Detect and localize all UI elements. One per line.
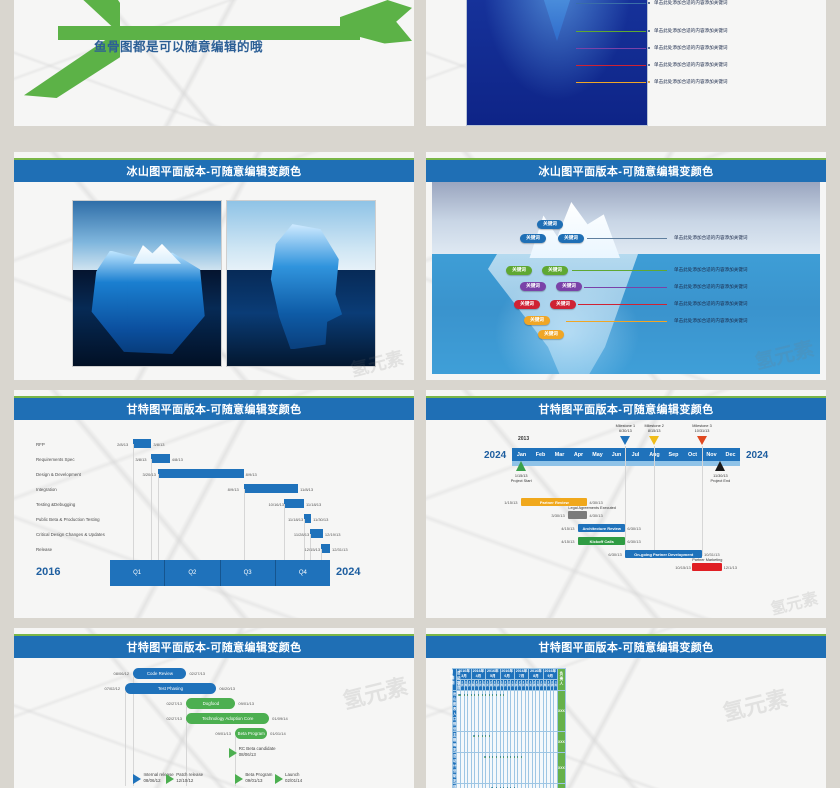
axis-month: Feb — [531, 448, 550, 461]
milestone-flag-icon[interactable] — [166, 774, 174, 784]
quarter-axis: Q1 Q2 Q3 Q4 — [110, 560, 330, 586]
slide-gantt-timeline[interactable]: 甘特图平面版本-可随意编辑变颜色 2024 2013 JanFebMarAprM… — [426, 390, 826, 618]
gantt-start-date: 09/01/13 — [215, 731, 231, 736]
project-marker-date: 11/30/13 — [702, 474, 738, 478]
gantt-end-date: 12/31/13 — [332, 547, 348, 552]
corner-label-activity: 活动项目 — [457, 670, 460, 690]
gantt-table-cell[interactable] — [554, 691, 558, 732]
gantt-bar[interactable]: Partner Review — [521, 498, 587, 506]
gantt-end-date: 01/01/14 — [270, 731, 286, 736]
leader-line — [584, 287, 667, 288]
axis-month: Nov — [702, 448, 721, 461]
slide-gantt-quarters[interactable]: 甘特图平面版本-可随意编辑变颜色 2016 Q1 Q2 Q3 Q4 2024 R… — [14, 390, 414, 618]
sky — [432, 182, 820, 254]
gantt-end-date: 8/9/13 — [246, 472, 257, 477]
iceberg-note: 单击此处添加合适的内容添加关键词 — [674, 301, 748, 307]
gantt-start-date: 8/9/13 — [228, 487, 239, 492]
keyword-pill[interactable]: 关键词 — [506, 266, 532, 275]
gantt-start-date: 10/15/13 — [675, 565, 691, 570]
leader-dot-icon — [648, 64, 650, 66]
iceberg-note: 单击此处添加合适的内容添加关键词 — [674, 235, 748, 241]
milestone-marker-icon[interactable] — [649, 436, 659, 445]
gantt-guide-line — [321, 549, 322, 560]
axis-year-end: 2024 — [746, 450, 768, 461]
gantt-bar[interactable] — [304, 514, 311, 523]
gantt-table-owner-header: 负责人 — [558, 669, 566, 691]
gantt-table-month: 2016年8月 — [529, 669, 543, 680]
axis-year-tick: 2013 — [518, 436, 529, 442]
table-header-row: 月份周期活动项目2016年3月2016年4月2016年5月2016年6月2016… — [453, 669, 566, 680]
gantt-bar[interactable]: On-going Partner Development — [625, 550, 702, 558]
gantt-start-date: 12/15/13 — [305, 547, 321, 552]
milestone-flag-icon[interactable] — [229, 748, 237, 758]
fishbone-caption: 鱼骨图都是可以随意编辑的哦 — [94, 36, 263, 55]
axis-quarter: Q1 — [110, 560, 165, 586]
gantt-table-cell[interactable] — [554, 753, 558, 784]
project-marker-icon[interactable] — [715, 461, 725, 471]
gantt-end-date: 6/30/13 — [627, 539, 640, 544]
axis-month: Sep — [664, 448, 683, 461]
iceberg-note: 单击此处添加合适的内容添加关键词 — [654, 45, 728, 51]
gantt-start-date: 3/20/13 — [142, 472, 155, 477]
gantt-start-date: 07/02/12 — [105, 686, 121, 691]
slide-fishbone[interactable]: 鱼骨图都是可以随意编辑的哦 — [14, 0, 414, 126]
gantt-end-date: 02/27/13 — [189, 671, 205, 676]
gantt-table-week: 4周 — [554, 680, 558, 691]
keyword-pill[interactable]: 关键词 — [558, 234, 584, 243]
gantt-bar[interactable] — [568, 511, 587, 519]
leader-line — [587, 238, 667, 239]
iceberg-photo-right — [226, 200, 376, 367]
gantt-start-date: 6/30/13 — [608, 552, 621, 557]
gantt-end-date: 10/31/13 — [704, 552, 720, 557]
slide-thumbnail-sheet: 鱼骨图都是可以随意编辑的哦 关键词 关键词 关键词 关键词 关键词 关键词 关键… — [0, 0, 840, 788]
milestone-guide-line — [702, 446, 703, 556]
gantt-bar-caption: Legal Agreements Executed — [568, 506, 587, 510]
gantt-start-date: 08/06/12 — [113, 671, 129, 676]
leader-dot-icon — [648, 47, 650, 49]
leader-dot-icon — [648, 81, 650, 83]
gantt-end-date: 4/8/13 — [172, 457, 183, 462]
keyword-pill[interactable]: 关键词 — [556, 282, 582, 291]
gantt-bar-caption: Partner Marketing — [692, 558, 721, 562]
gantt-bar[interactable] — [692, 563, 721, 571]
gantt-start-date: 10/16/13 — [268, 502, 284, 507]
slide-title: 甘特图平面版本-可随意编辑变颜色 — [14, 398, 414, 420]
project-marker-label: Project End — [698, 479, 742, 483]
gantt-end-date: 11/8/13 — [300, 487, 313, 492]
iceberg-note: 单击此处添加合适的内容添加关键词 — [654, 0, 728, 6]
gantt-start-date: 4/15/13 — [561, 526, 574, 531]
gantt-bar[interactable] — [310, 529, 323, 538]
gantt-table: 月份周期活动项目2016年3月2016年4月2016年5月2016年6月2016… — [452, 668, 566, 788]
gantt-bar[interactable]: Architecture Review — [578, 524, 625, 532]
milestone-date: 12/10/12 — [176, 778, 203, 784]
gantt-bar[interactable] — [133, 439, 151, 448]
gantt-end-date: 11/30/13 — [313, 517, 328, 522]
table-header-row: 1周2周3周4周1周2周3周4周1周2周3周4周1周2周3周4周1周2周3周4周… — [453, 680, 566, 691]
milestone-guide-line — [625, 446, 626, 556]
axis-month: May — [588, 448, 607, 461]
gantt-task-label: Requirements Spec — [36, 457, 75, 462]
gantt-task-label: Public Beta & Production Testing — [36, 517, 100, 522]
keyword-pill[interactable]: 关键词 — [537, 220, 563, 229]
slide-iceberg-dark[interactable]: 关键词 关键词 关键词 关键词 关键词 关键词 关键词 关键词 关键词 单击此处… — [426, 0, 826, 126]
keyword-pill[interactable]: 关键词 — [520, 282, 546, 291]
slide-iceberg-photos[interactable]: 冰山图平面版本-可随意编辑变颜色 氢元素 — [14, 152, 414, 380]
gantt-start-date: 2/8/13 — [117, 442, 128, 447]
milestone-guide-line — [654, 446, 655, 556]
axis-month: Jan — [512, 448, 531, 461]
milestone-label: Milestone 2 — [632, 424, 676, 428]
iceberg-note: 单击此处添加合适的内容添加关键词 — [674, 284, 748, 290]
axis-year-end: 2024 — [336, 566, 360, 578]
milestone-date: 8/15/13 — [632, 429, 676, 433]
gantt-guide-line — [133, 444, 134, 560]
gantt-end-date: 12/19/13 — [325, 532, 341, 537]
milestone-label: Milestone 3 — [680, 424, 724, 428]
leader-line — [576, 31, 646, 32]
milestone-marker-icon[interactable] — [697, 436, 707, 445]
leader-line — [576, 82, 646, 83]
leader-line — [576, 48, 646, 49]
axis-year-start: 2016 — [36, 566, 60, 578]
slide-title: 甘特图平面版本-可随意编辑变颜色 — [426, 636, 826, 658]
leader-dot-icon — [648, 30, 650, 32]
iceberg-dark-canvas: 关键词 关键词 关键词 关键词 关键词 关键词 关键词 关键词 关键词 — [466, 0, 648, 126]
gantt-guide-line — [125, 691, 126, 786]
keyword-pill[interactable]: 关键词 — [520, 234, 546, 243]
iceberg-note: 单击此处添加合适的内容添加关键词 — [674, 267, 748, 273]
gantt-bar[interactable] — [284, 499, 304, 508]
slide-gantt-table[interactable]: 甘特图平面版本-可随意编辑变颜色 月份周期活动项目2016年3月2016年4月2… — [426, 628, 826, 788]
gantt-task-label: Critical Design Changes & Updates — [36, 532, 105, 537]
iceberg-note: 单击此处添加合适的内容添加关键词 — [654, 28, 728, 34]
axis-month: Dec — [721, 448, 740, 461]
keyword-pill[interactable]: 关键词 — [524, 316, 550, 325]
gantt-task-label: Testing &Debugging — [36, 502, 75, 507]
project-marker-date: 1/15/13 — [503, 474, 539, 478]
gantt-start-date: 11/28/13 — [294, 532, 309, 537]
milestone-date: 10/31/13 — [680, 429, 724, 433]
milestone-date: 02/01/14 — [285, 778, 302, 784]
gantt-table-corner: 月份周期活动项目 — [453, 669, 457, 691]
table-row: 现状产量XXX — [453, 784, 566, 788]
gantt-bar[interactable] — [244, 484, 298, 493]
slide-gantt-rounded[interactable]: 甘特图平面版本-可随意编辑变颜色 Code Review08/06/1202/2… — [14, 628, 414, 788]
milestone-marker-icon[interactable] — [620, 436, 630, 445]
gantt-task-label: Design & Development — [36, 472, 81, 477]
project-marker-label: Project Start — [499, 479, 543, 483]
gantt-end-date: 3/8/13 — [153, 442, 164, 447]
iceberg-cone-icon — [534, 0, 580, 41]
axis-month: Mar — [550, 448, 569, 461]
milestone-flag-icon[interactable] — [133, 774, 141, 784]
gantt-bar[interactable] — [151, 454, 169, 463]
axis-quarter: Q3 — [221, 560, 276, 586]
iceberg-flat-canvas: 关键词 关键词 关键词 关键词 关键词 关键词 关键词 关键词 关键词 关键词 … — [432, 182, 820, 374]
gantt-bar[interactable] — [158, 469, 243, 478]
gantt-bar[interactable]: Test Phasing — [125, 683, 217, 694]
leader-line — [576, 65, 646, 66]
gantt-table-month: 2016年7月 — [514, 669, 528, 680]
slide-title: 甘特图平面版本-可随意编辑变颜色 — [426, 398, 826, 420]
keyword-pill[interactable]: 关键词 — [538, 330, 564, 339]
gantt-start-date: 3/8/13 — [135, 457, 146, 462]
gantt-table-month: 2016年9月 — [543, 669, 557, 680]
gantt-guide-line — [304, 519, 305, 560]
table-row: 主题确定XXX — [453, 732, 566, 753]
keyword-pill[interactable]: 关键词 — [542, 266, 568, 275]
axis-quarter: Q2 — [165, 560, 220, 586]
gantt-end-date: 11/18/13 — [306, 502, 321, 507]
iceberg-photo-left — [72, 200, 222, 367]
slide-iceberg-flat[interactable]: 冰山图平面版本-可随意编辑变颜色 关键词 关键词 关键词 关键词 关键词 关键词… — [426, 152, 826, 380]
gantt-bar[interactable]: Technology Adoption Core — [186, 713, 269, 724]
gantt-start-date: 02/27/13 — [166, 716, 182, 721]
milestone-flag-icon[interactable] — [275, 774, 283, 784]
gantt-guide-line — [158, 474, 159, 560]
axis-month: Jul — [626, 448, 645, 461]
gantt-end-date: 09/01/13 — [238, 701, 254, 706]
gantt-guide-line — [244, 489, 245, 560]
gantt-guide-line — [284, 504, 285, 560]
gantt-start-date: 4/15/13 — [561, 539, 574, 544]
gantt-task-label: Release — [36, 547, 52, 552]
slide-title: 冰山图平面版本-可随意编辑变颜色 — [14, 160, 414, 182]
gantt-table-month: 2016年4月 — [471, 669, 485, 680]
gantt-bar[interactable]: Dogfood — [186, 698, 235, 709]
axis-month: Jun — [607, 448, 626, 461]
gantt-end-date: 4/30/13 — [589, 513, 602, 518]
milestone-flag-icon[interactable] — [235, 774, 243, 784]
gantt-start-date: 02/27/13 — [166, 701, 182, 706]
iceberg-note: 单击此处添加合适的内容添加关键词 — [654, 79, 728, 85]
gantt-end-date: 01/09/14 — [272, 716, 288, 721]
gantt-table-owner: XXX — [558, 784, 566, 788]
table-row: 出山图表入口规划XXX — [453, 691, 566, 732]
gantt-table-month: 2016年6月 — [500, 669, 514, 680]
gantt-end-date: 12/1/13 — [724, 565, 737, 570]
axis-month: Apr — [569, 448, 588, 461]
corner-label-period: 周期 — [451, 675, 454, 685]
axis-month: Oct — [683, 448, 702, 461]
leader-line — [572, 270, 667, 271]
gantt-table-owner: XXX — [558, 753, 566, 784]
slide-title: 甘特图平面版本-可随意编辑变颜色 — [14, 636, 414, 658]
table-row: 活动计划制定XXX — [453, 753, 566, 784]
iceberg-note: 单击此处添加合适的内容添加关键词 — [654, 62, 728, 68]
milestone-date: 08/06/13 — [239, 752, 276, 758]
gantt-end-date: 6/30/13 — [627, 526, 640, 531]
axis-year-start: 2024 — [484, 450, 506, 461]
iceberg-note: 单击此处添加合适的内容添加关键词 — [674, 318, 748, 324]
milestone-flag-label: Patch release12/10/12 — [176, 772, 203, 784]
gantt-table-cell[interactable] — [554, 732, 558, 753]
gantt-bar[interactable]: Beta Program — [235, 728, 267, 739]
keyword-pill[interactable]: 关键词 — [514, 300, 540, 309]
gantt-bar[interactable]: Kickoff Calls — [578, 537, 625, 545]
gantt-start-date: 3/30/13 — [551, 513, 564, 518]
milestone-flag-label: Beta Program09/01/13 — [245, 772, 272, 784]
gantt-task-label: Integration — [36, 487, 57, 492]
leader-line — [576, 3, 646, 4]
leader-line — [578, 304, 667, 305]
leader-dot-icon — [648, 2, 650, 4]
gantt-bar[interactable] — [321, 544, 330, 553]
milestone-flag-label: RC Beta candidate08/06/13 — [239, 746, 276, 758]
project-marker-icon[interactable] — [516, 461, 526, 471]
gantt-bar[interactable]: Code Review — [133, 668, 186, 679]
milestone-flag-label: Launch02/01/14 — [285, 772, 302, 784]
gantt-task-label: RFP — [36, 442, 45, 447]
gantt-start-date: 11/18/13 — [288, 517, 303, 522]
leader-line — [566, 321, 667, 322]
gantt-start-date: 1/15/13 — [504, 500, 517, 505]
milestone-date: 09/01/13 — [245, 778, 272, 784]
gantt-end-date: 4/30/13 — [589, 500, 602, 505]
gantt-table-cell[interactable] — [554, 784, 558, 788]
gantt-end-date: 06/20/13 — [219, 686, 235, 691]
gantt-table-owner: XXX — [558, 691, 566, 732]
slide-title: 冰山图平面版本-可随意编辑变颜色 — [426, 160, 826, 182]
gantt-table-month: 2016年5月 — [486, 669, 500, 680]
axis-quarter: Q4 — [276, 560, 330, 586]
keyword-pill[interactable]: 关键词 — [550, 300, 576, 309]
gantt-table-owner: XXX — [558, 732, 566, 753]
